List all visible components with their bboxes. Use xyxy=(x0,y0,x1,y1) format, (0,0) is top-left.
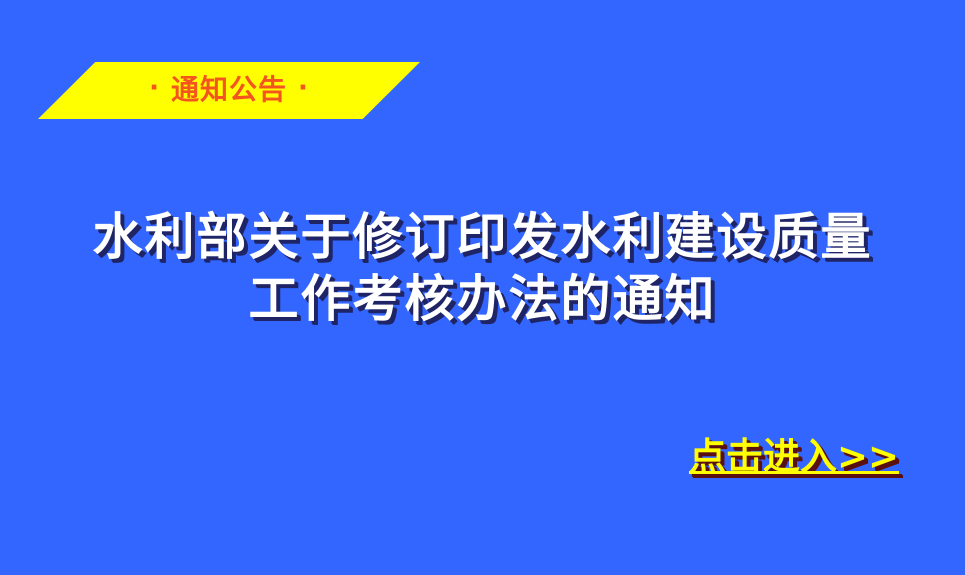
page-title-line-2: 工作考核办法的通知 xyxy=(0,268,965,330)
notice-category-banner: · 通知公告 · xyxy=(38,62,420,119)
page-title-line-1: 水利部关于修订印发水利建设质量 xyxy=(0,206,965,268)
banner-label: 通知公告 xyxy=(171,76,287,104)
banner-left-dot-icon: · xyxy=(149,75,160,101)
banner-label-group: · 通知公告 · xyxy=(38,62,420,119)
banner-right-dot-icon: · xyxy=(298,75,309,101)
page-title: 水利部关于修订印发水利建设质量 工作考核办法的通知 xyxy=(0,206,965,330)
announcement-banner-page: · 通知公告 · 水利部关于修订印发水利建设质量 工作考核办法的通知 点击进入>… xyxy=(0,0,965,575)
enter-link[interactable]: 点击进入>> xyxy=(689,434,899,480)
